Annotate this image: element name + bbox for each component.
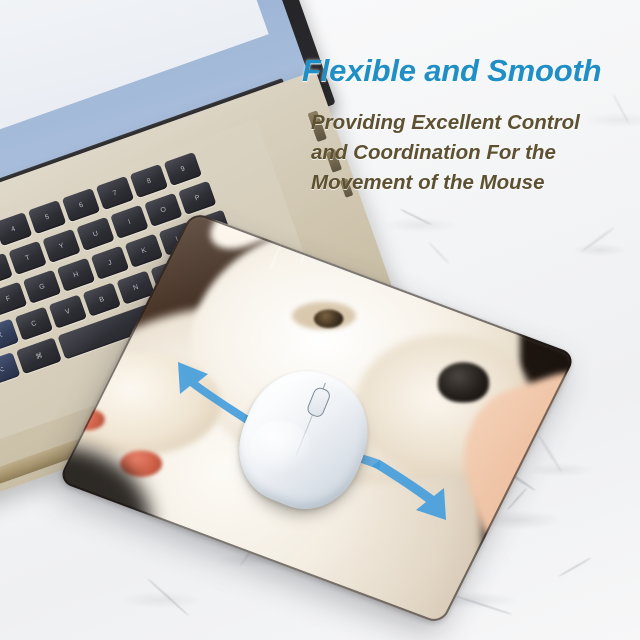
mouse-scroll-wheel: [305, 386, 332, 419]
subtitle-block: Providing Excellent Control and Coordina…: [311, 108, 633, 198]
product-photo-stage: ~ 1 2 3 4 5 6 7 8 9 Q W E R T Y U I O P …: [0, 0, 640, 640]
subtitle-line-2: and Coordination For the: [311, 138, 633, 168]
page-title: Flexible and Smooth: [302, 54, 638, 87]
subtitle-line-3: Movement of the Mouse: [311, 168, 633, 198]
subtitle-line-1: Providing Excellent Control: [311, 108, 633, 138]
